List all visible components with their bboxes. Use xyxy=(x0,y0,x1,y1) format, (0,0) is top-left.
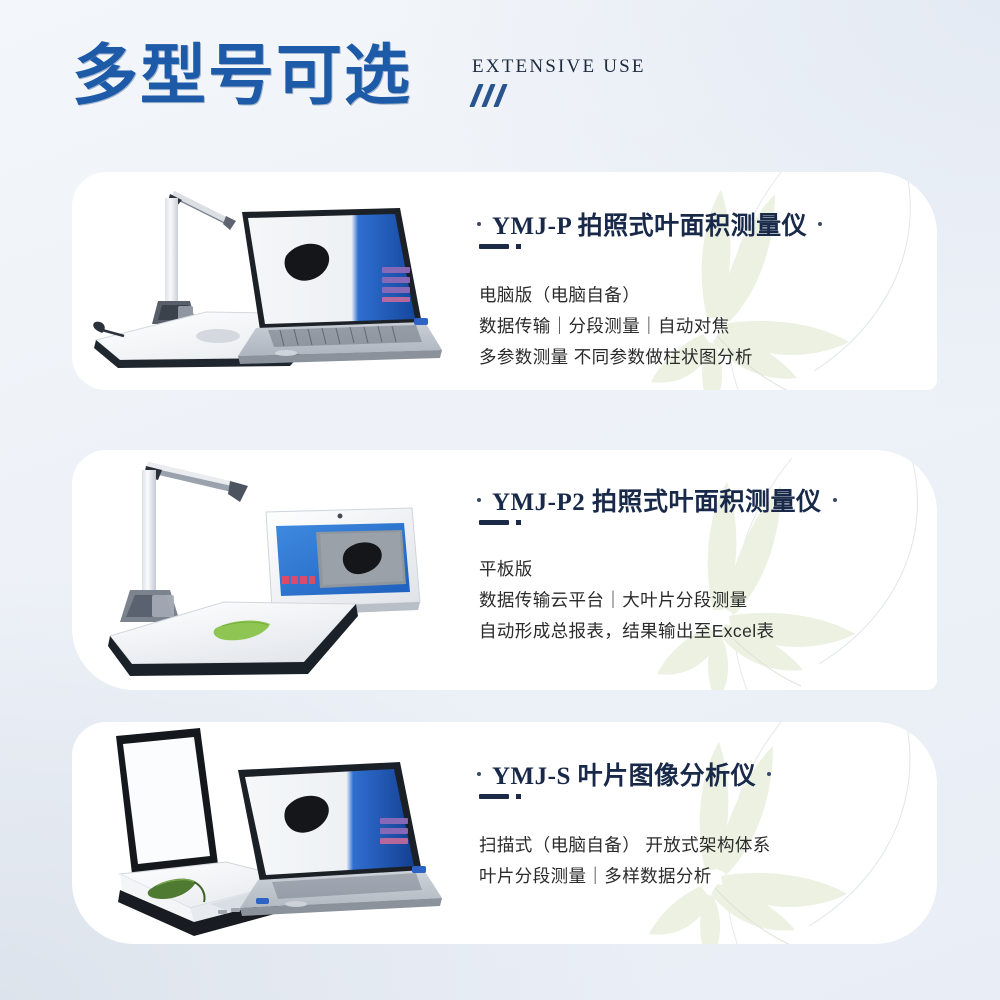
rule-bar xyxy=(479,520,509,525)
product-text-ymj-s: YMJ-S 叶片图像分析仪 扫描式（电脑自备） 开放式架构体系 叶片分段测量｜多… xyxy=(477,722,917,944)
product-image-ymj-s xyxy=(90,722,445,944)
product-description: 扫描式（电脑自备） 开放式架构体系 叶片分段测量｜多样数据分析 xyxy=(479,830,771,892)
page-subtitle-group: EXTENSIVE USE xyxy=(472,56,646,107)
product-image-ymj-p2 xyxy=(90,450,445,690)
dot-icon xyxy=(477,222,481,226)
title-underline-decoration xyxy=(479,794,521,799)
product-title-row: YMJ-P 拍照式叶面积测量仪 xyxy=(477,206,822,242)
product-title-row: YMJ-S 叶片图像分析仪 xyxy=(477,756,771,792)
rule-bar xyxy=(479,244,509,249)
product-card[interactable]: YMJ-P 拍照式叶面积测量仪 电脑版（电脑自备） 数据传输｜分段测量｜自动对焦… xyxy=(72,172,937,390)
title-underline-decoration xyxy=(479,520,521,525)
page-title: 多型号可选 xyxy=(72,42,412,111)
description-line: 自动形成总报表，结果输出至Excel表 xyxy=(479,616,774,647)
description-line: 电脑版（电脑自备） xyxy=(479,280,753,311)
product-text-ymj-p2: YMJ-P2 拍照式叶面积测量仪 平板版 数据传输云平台｜大叶片分段测量 自动形… xyxy=(477,450,917,690)
dot-icon xyxy=(818,222,822,226)
rule-bar xyxy=(479,794,509,799)
dot-icon xyxy=(767,772,771,776)
page-subtitle: EXTENSIVE USE xyxy=(472,56,646,78)
product-text-ymj-p: YMJ-P 拍照式叶面积测量仪 电脑版（电脑自备） 数据传输｜分段测量｜自动对焦… xyxy=(477,172,917,390)
description-line: 多参数测量 不同参数做柱状图分析 xyxy=(479,342,753,373)
product-card[interactable]: YMJ-S 叶片图像分析仪 扫描式（电脑自备） 开放式架构体系 叶片分段测量｜多… xyxy=(72,722,937,944)
slash-decoration xyxy=(472,84,646,107)
title-underline-decoration xyxy=(479,244,521,249)
product-card[interactable]: YMJ-P2 拍照式叶面积测量仪 平板版 数据传输云平台｜大叶片分段测量 自动形… xyxy=(72,450,937,690)
product-title: YMJ-P2 拍照式叶面积测量仪 xyxy=(492,482,822,518)
description-line: 叶片分段测量｜多样数据分析 xyxy=(479,861,771,892)
description-line: 数据传输云平台｜大叶片分段测量 xyxy=(479,585,774,616)
product-description: 平板版 数据传输云平台｜大叶片分段测量 自动形成总报表，结果输出至Excel表 xyxy=(479,554,774,647)
dot-icon xyxy=(477,498,481,502)
description-line: 平板版 xyxy=(479,554,774,585)
rule-dot-icon xyxy=(516,520,521,525)
product-description: 电脑版（电脑自备） 数据传输｜分段测量｜自动对焦 多参数测量 不同参数做柱状图分… xyxy=(479,280,753,373)
description-line: 数据传输｜分段测量｜自动对焦 xyxy=(479,311,753,342)
product-image-ymj-p xyxy=(90,172,445,390)
product-title-row: YMJ-P2 拍照式叶面积测量仪 xyxy=(477,482,837,518)
page-root: 多型号可选 EXTENSIVE USE xyxy=(0,0,1000,1000)
description-line: 扫描式（电脑自备） 开放式架构体系 xyxy=(479,830,771,861)
rule-dot-icon xyxy=(516,244,521,249)
product-title: YMJ-P 拍照式叶面积测量仪 xyxy=(492,206,807,242)
slash-icon xyxy=(493,84,507,107)
product-title: YMJ-S 叶片图像分析仪 xyxy=(492,756,756,792)
dot-icon xyxy=(477,772,481,776)
rule-dot-icon xyxy=(516,794,521,799)
dot-icon xyxy=(833,498,837,502)
page-header: 多型号可选 EXTENSIVE USE xyxy=(72,38,692,158)
